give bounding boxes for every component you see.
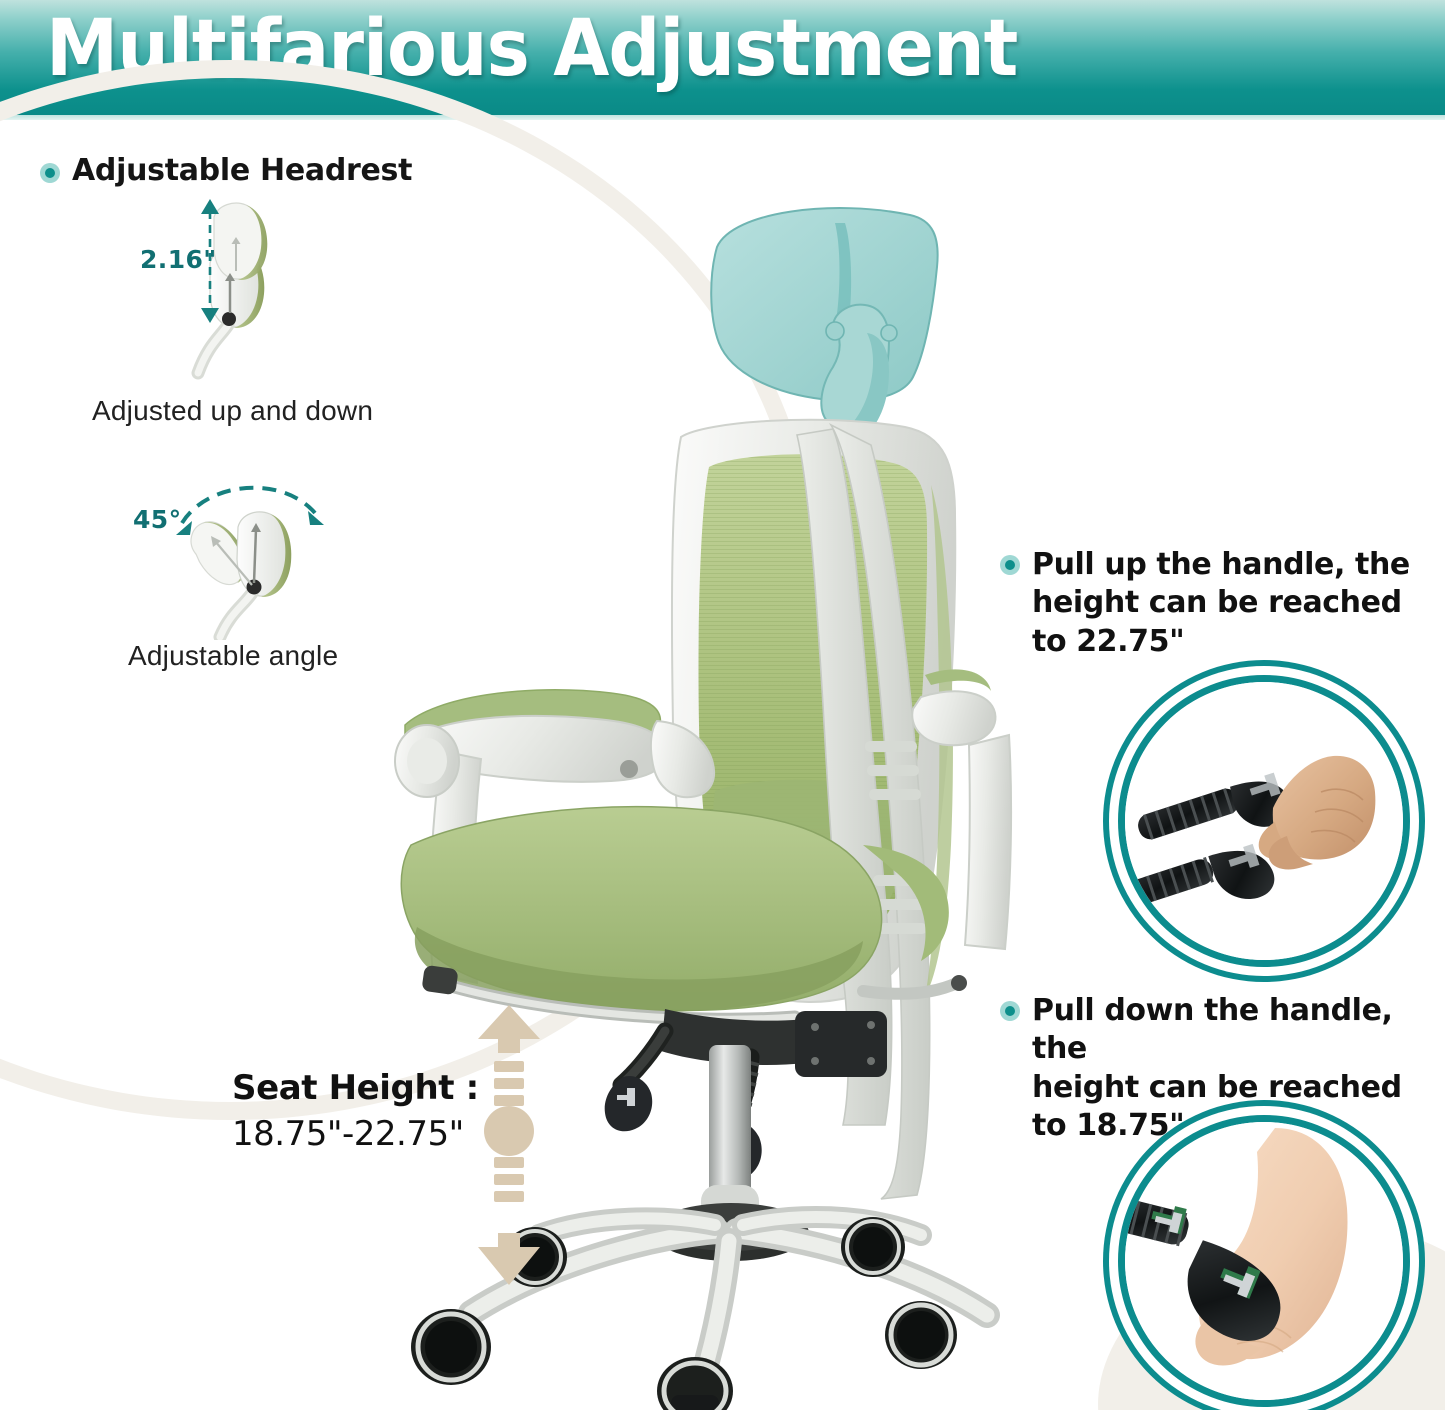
banner-underline	[0, 115, 1445, 120]
caster-wheel	[657, 1357, 733, 1410]
headrest-angle-diagram	[160, 465, 350, 640]
headrest-travel-measure: 2.16"	[140, 245, 217, 274]
hand-pulling-down-lever-photo	[1118, 1115, 1410, 1407]
section-heading-adjustable-headrest: Adjustable Headrest	[40, 154, 412, 189]
section-heading-label: Adjustable Headrest	[72, 154, 412, 189]
office-chair-illustration	[365, 185, 1025, 1410]
seat-height-value: 18.75"-22.75"	[232, 1114, 479, 1154]
page-title: Multifarious Adjustment	[46, 4, 1017, 94]
callout-pull-up: Pull up the handle, the height can be re…	[1000, 546, 1440, 661]
caster-wheel	[841, 1217, 905, 1277]
bullet-dot-icon	[40, 163, 60, 183]
headrest-updown-caption: Adjusted up and down	[92, 395, 373, 427]
headrest-updown-diagram	[170, 195, 320, 380]
bullet-dot-icon	[1000, 555, 1020, 575]
caster-wheel	[885, 1301, 957, 1369]
infographic-page: Multifarious Adjustment Adjustable Headr…	[0, 0, 1445, 1410]
seat-height-label: Seat Height :	[232, 1068, 479, 1108]
caster-wheel	[411, 1309, 491, 1385]
gas-lift-cylinder-part	[701, 1045, 759, 1227]
down-arrow-indicator-icon	[470, 1205, 548, 1290]
bullet-dot-icon	[1000, 1001, 1020, 1021]
header-banner: Multifarious Adjustment	[0, 0, 1445, 115]
callout-pull-up-text: Pull up the handle, the height can be re…	[1032, 546, 1440, 661]
headrest-angle-measure: 45°	[133, 505, 182, 534]
hand-pulling-up-lever-photo	[1118, 675, 1410, 967]
updown-arrow-indicator-icon	[470, 1005, 548, 1210]
headrest-angle-caption: Adjustable angle	[128, 640, 338, 672]
adjustable-headrest-part	[711, 208, 937, 447]
seat-height-block: Seat Height : 18.75"-22.75"	[232, 1068, 479, 1154]
